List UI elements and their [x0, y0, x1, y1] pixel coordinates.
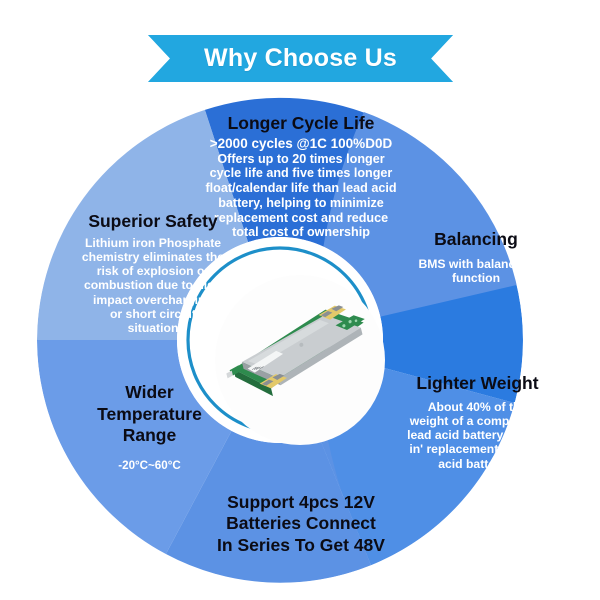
infographic-canvas: Why Choose Us [0, 0, 600, 600]
title-ribbon: Why Choose Us [148, 35, 453, 82]
bms-board-icon [218, 292, 383, 428]
product-photo [215, 275, 385, 445]
ribbon-shape-icon [148, 35, 453, 82]
